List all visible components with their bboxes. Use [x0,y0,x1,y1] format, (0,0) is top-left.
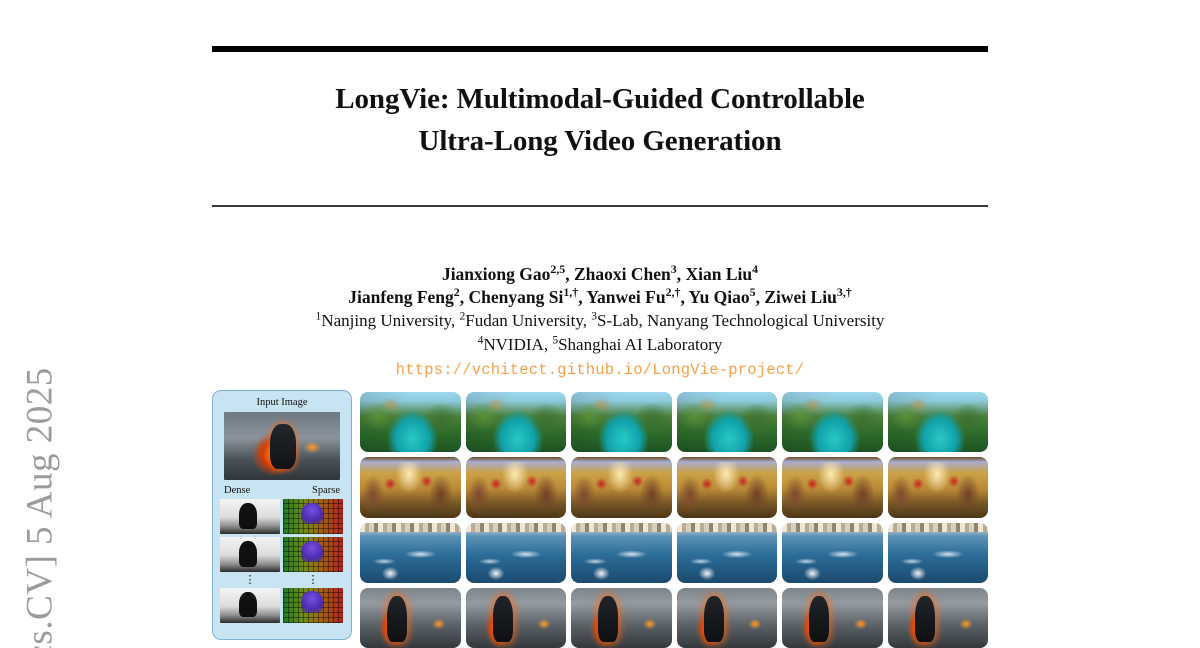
video-row [360,392,988,452]
video-frame-boat-icy-water [360,523,461,583]
dense-depth-map [220,588,280,623]
affiliation-marker: 2 [454,285,460,299]
affiliation-marker: 2 [460,310,466,323]
author-line-1: Jianxiong Gao2,5, Zhaoxi Chen3, Xian Liu… [212,263,988,286]
sparse-point-track [283,588,343,623]
video-frame-canyon-river-landscape [360,392,461,452]
affiliation-line-2: 4NVIDIA, 5Shanghai AI Laboratory [212,333,988,356]
affiliation-marker: 3 [591,310,597,323]
affiliation-marker: 1 [316,310,322,323]
arxiv-stamp: cs.CV] 5 Aug 2025 [0,0,96,648]
affiliation-marker: 4 [478,333,484,346]
affiliation-marker: 5 [552,333,558,346]
dense-column-label: Dense [224,485,250,496]
affiliation-marker: 2,† [666,285,681,299]
dense-ellipsis-icon: ⋮ [220,576,280,585]
header-rule-bottom [212,205,988,207]
sparse-column-label: Sparse [312,485,340,496]
video-frame-lava-creature-ruins [677,588,778,648]
header-rule-top [212,46,988,52]
affiliation-marker: 3,† [837,285,852,299]
author-line-2: Jianfeng Feng2, Chenyang Si1,†, Yanwei F… [212,286,988,309]
video-frame-boat-icy-water [466,523,567,583]
control-row [220,537,344,572]
video-frame-canyon-river-landscape [782,392,883,452]
teaser-figure: Input Image Dense Sparse ⋮ ⋮ [212,390,988,648]
video-frame-boat-icy-water [782,523,883,583]
video-frame-boxing-gilded-hall [571,457,672,517]
page-title: LongVie: Multimodal-Guided Controllable … [212,78,988,163]
sparse-point-track [283,537,343,572]
input-image-thumbnail [224,412,340,480]
affiliation-marker: 2,5 [550,262,565,276]
video-row [360,523,988,583]
video-row [360,457,988,517]
video-frame-lava-creature-ruins [888,588,989,648]
input-image-label: Input Image [256,396,307,409]
paper-column: LongVie: Multimodal-Guided Controllable … [212,0,988,648]
generated-video-grid [360,390,988,648]
video-frame-canyon-river-landscape [466,392,567,452]
author-block: Jianxiong Gao2,5, Zhaoxi Chen3, Xian Liu… [212,263,988,379]
project-page-link[interactable]: https://vchitect.github.io/LongVie-proje… [396,361,805,379]
control-ellipsis-row: ⋮ ⋮ [220,576,344,585]
sparse-point-track [283,499,343,534]
video-frame-boxing-gilded-hall [888,457,989,517]
arxiv-stamp-text: cs.CV] 5 Aug 2025 [19,242,62,648]
video-frame-lava-creature-ruins [360,588,461,648]
affiliation-marker: 3 [671,262,677,276]
dense-depth-map [220,499,280,534]
title-line-1: LongVie: Multimodal-Guided Controllable [212,78,988,120]
title-line-2: Ultra-Long Video Generation [212,120,988,162]
video-row [360,588,988,648]
video-frame-boxing-gilded-hall [360,457,461,517]
video-frame-lava-creature-ruins [782,588,883,648]
affiliation-marker: 5 [750,285,756,299]
video-frame-boxing-gilded-hall [466,457,567,517]
video-frame-boat-icy-water [677,523,778,583]
video-frame-boat-icy-water [571,523,672,583]
video-frame-canyon-river-landscape [677,392,778,452]
sparse-ellipsis-icon: ⋮ [283,576,343,585]
control-signal-panel: Input Image Dense Sparse ⋮ ⋮ [212,390,352,640]
video-frame-boxing-gilded-hall [782,457,883,517]
video-frame-canyon-river-landscape [888,392,989,452]
video-frame-boxing-gilded-hall [677,457,778,517]
affiliation-marker: 1,† [563,285,578,299]
dense-depth-map [220,537,280,572]
control-column-headers: Dense Sparse [220,485,344,496]
video-frame-lava-creature-ruins [571,588,672,648]
affiliation-line-1: 1Nanjing University, 2Fudan University, … [212,309,988,332]
video-frame-canyon-river-landscape [571,392,672,452]
control-row [220,499,344,534]
control-row [220,588,344,623]
affiliation-marker: 4 [752,262,758,276]
video-frame-lava-creature-ruins [466,588,567,648]
video-frame-boat-icy-water [888,523,989,583]
